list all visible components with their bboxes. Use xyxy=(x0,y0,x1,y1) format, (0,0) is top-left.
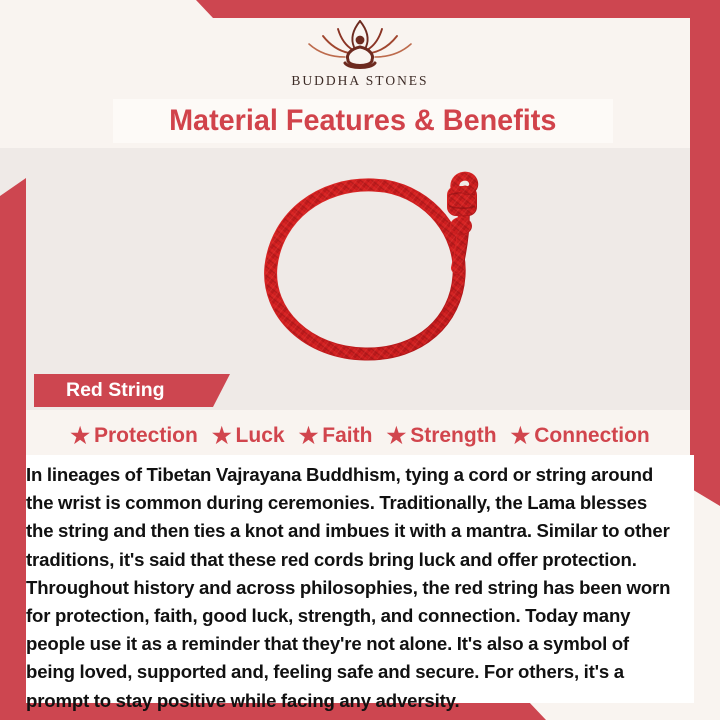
benefit-label: Protection xyxy=(94,424,198,448)
lotus-meditation-icon xyxy=(301,18,419,72)
description-panel: In lineages of Tibetan Vajrayana Buddhis… xyxy=(26,455,694,703)
benefits-list: ★ Protection ★ Luck ★ Faith ★ Strength ★… xyxy=(26,419,694,453)
benefit-item: ★ Protection xyxy=(70,424,198,448)
benefit-item: ★ Faith xyxy=(299,424,373,448)
benefit-item: ★ Luck xyxy=(212,424,285,448)
star-icon: ★ xyxy=(386,425,406,447)
red-braided-string-bracelet-icon xyxy=(225,150,505,380)
description-text: In lineages of Tibetan Vajrayana Buddhis… xyxy=(26,461,678,715)
product-label-banner: Red String xyxy=(34,374,230,407)
product-image xyxy=(225,150,505,380)
benefit-label: Luck xyxy=(236,424,285,448)
star-icon: ★ xyxy=(511,425,531,447)
benefit-label: Connection xyxy=(534,424,650,448)
infographic-page: BUDDHA STONES Material Features & Benefi… xyxy=(0,0,720,720)
title-banner: Material Features & Benefits xyxy=(113,99,613,143)
brand-name: BUDDHA STONES xyxy=(291,73,428,89)
frame-band-left xyxy=(0,178,26,720)
star-icon: ★ xyxy=(70,425,90,447)
star-icon: ★ xyxy=(299,425,319,447)
benefit-item: ★ Connection xyxy=(511,424,650,448)
benefit-label: Strength xyxy=(410,424,496,448)
product-label: Red String xyxy=(66,379,165,402)
page-title: Material Features & Benefits xyxy=(169,104,556,138)
brand-logo: BUDDHA STONES xyxy=(0,18,720,96)
star-icon: ★ xyxy=(212,425,232,447)
benefit-item: ★ Strength xyxy=(386,424,496,448)
benefit-label: Faith xyxy=(322,424,372,448)
